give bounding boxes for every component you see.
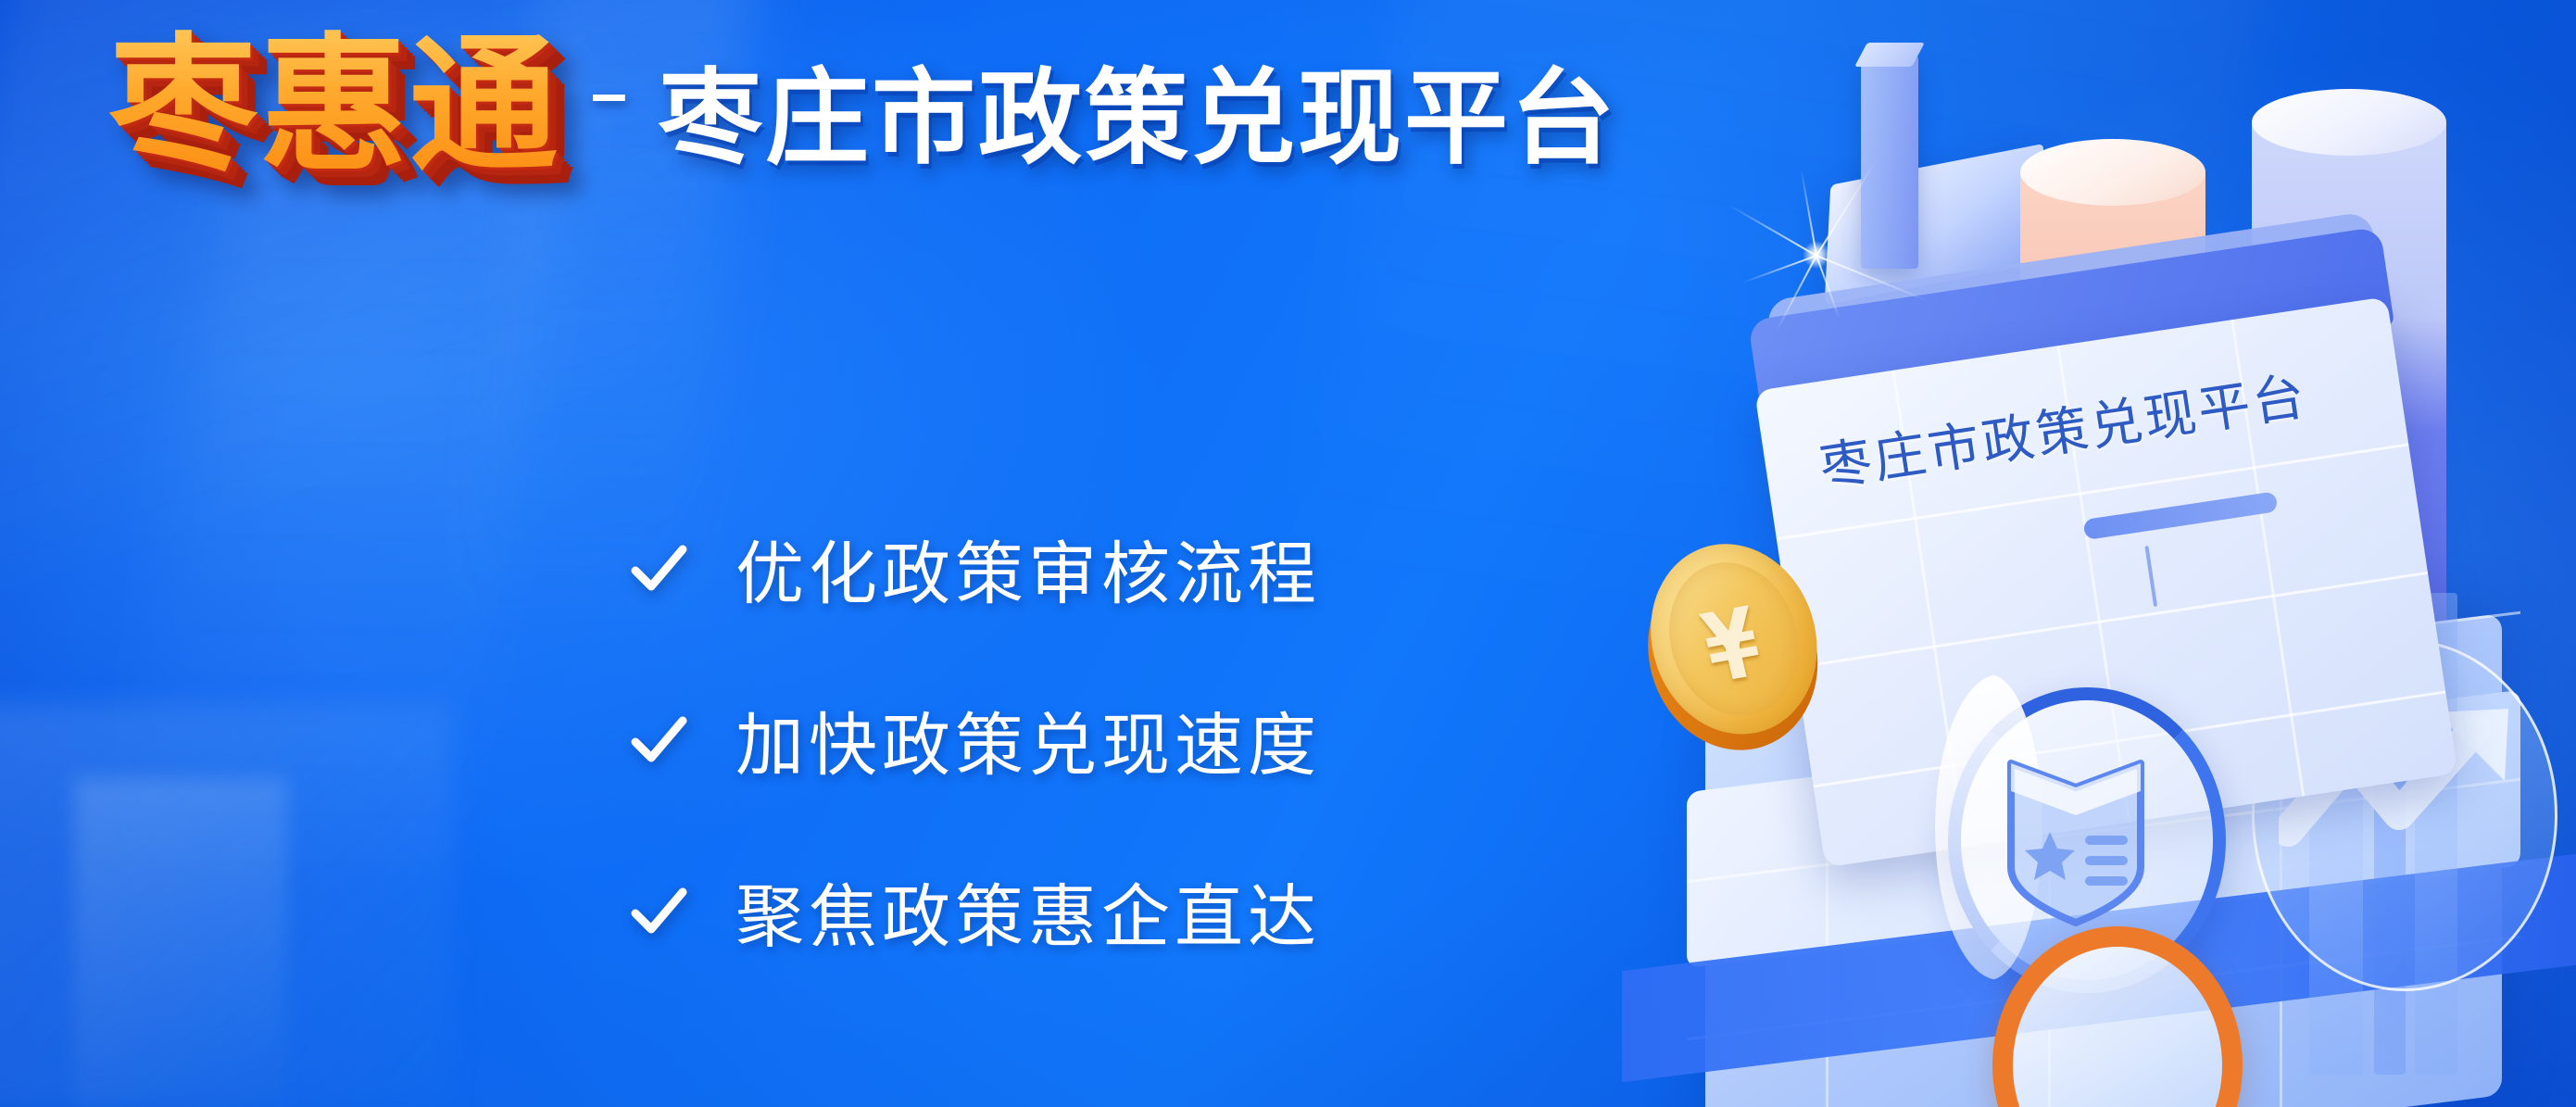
small-bar-block [1861, 56, 1918, 269]
headline-separator: – [591, 56, 627, 130]
banner-illustration: 枣庄市政策兑现平台 ¥ [1622, 0, 2576, 1107]
feature-label: 优化政策审核流程 [735, 519, 1321, 618]
list-item: 优化政策审核流程 [630, 519, 1321, 618]
banner-headline: 枣惠通 – 枣庄市政策兑现平台 [109, 26, 1617, 186]
feature-label: 聚焦政策惠企直达 [735, 862, 1321, 961]
check-icon [630, 883, 687, 940]
policy-platform-banner: 枣惠通 – 枣庄市政策兑现平台 优化政策审核流程 加快政策兑现速度 聚焦政策惠企… [0, 0, 2576, 1107]
feature-label: 加快政策兑现速度 [735, 690, 1321, 789]
cylinder-bar-blue-top [2252, 89, 2446, 156]
check-icon [630, 711, 687, 769]
document-progress-bar [2082, 491, 2278, 540]
list-item: 聚焦政策惠企直达 [630, 862, 1321, 961]
coin-yuan-symbol: ¥ [1635, 524, 1828, 766]
badge-shield-shape [2002, 747, 2150, 928]
document-tick-mark [2144, 546, 2157, 607]
cylinder-bar-orange-top [2020, 139, 2205, 206]
banner-subtitle: 枣庄市政策兑现平台 [659, 34, 1617, 184]
brand-title: 枣惠通 [109, 26, 559, 186]
sparkle-icon [1812, 250, 1821, 259]
check-icon [630, 540, 687, 598]
feature-list: 优化政策审核流程 加快政策兑现速度 聚焦政策惠企直达 [630, 519, 1321, 961]
list-item: 加快政策兑现速度 [630, 690, 1321, 789]
